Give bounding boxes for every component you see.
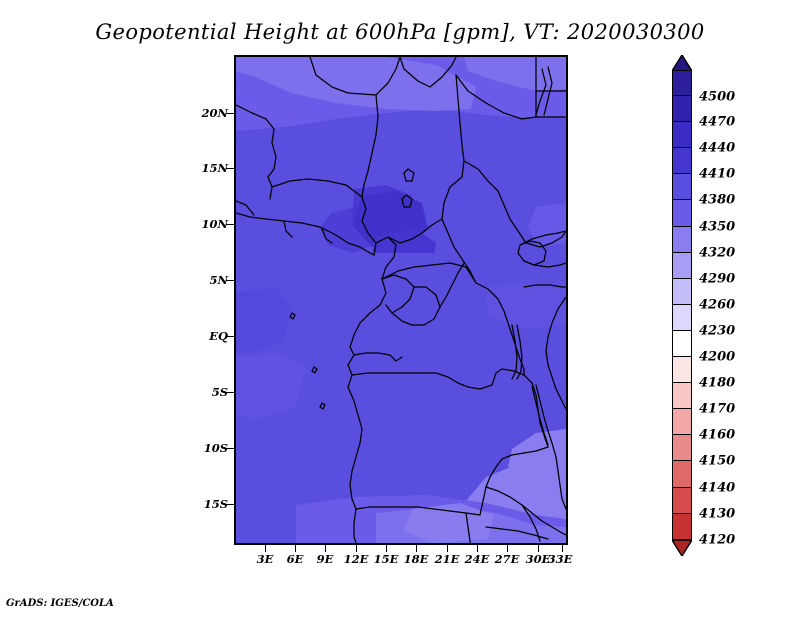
- y-axis-label-15n: 15N: [196, 161, 228, 175]
- colorbar-swatch: 4120: [672, 514, 692, 540]
- colorbar-bottom-arrow: [672, 540, 692, 556]
- colorbar-label-4130: 4130: [699, 506, 735, 521]
- x-axis-label-12e: 12E: [344, 552, 369, 566]
- colorbar-label-4150: 4150: [699, 454, 735, 469]
- x-tick: [562, 545, 563, 552]
- colorbar: 4500447044404410438043504320429042604230…: [672, 70, 692, 540]
- y-tick: [226, 224, 234, 225]
- colorbar-swatch: 4440: [672, 122, 692, 148]
- x-tick: [416, 545, 417, 552]
- x-axis-label-15e: 15E: [374, 552, 399, 566]
- x-axis-label-6e: 6E: [287, 552, 304, 566]
- colorbar-label-4410: 4410: [699, 167, 735, 182]
- colorbar-label-4170: 4170: [699, 402, 735, 417]
- colorbar-label-4160: 4160: [699, 428, 735, 443]
- x-axis-label-3e: 3E: [257, 552, 274, 566]
- colorbar-label-4290: 4290: [699, 271, 735, 286]
- x-axis-label-27e: 27E: [495, 552, 520, 566]
- colorbar-swatch: 4170: [672, 383, 692, 409]
- colorbar-label-4260: 4260: [699, 297, 735, 312]
- y-tick: [226, 280, 234, 281]
- colorbar-label-4350: 4350: [699, 219, 735, 234]
- y-axis-label-20n: 20N: [196, 106, 228, 120]
- x-tick: [325, 545, 326, 552]
- colorbar-label-4440: 4440: [699, 141, 735, 156]
- x-axis-label-18e: 18E: [404, 552, 429, 566]
- colorbar-label-4500: 4500: [699, 90, 735, 105]
- colorbar-swatch: 4500: [672, 70, 692, 96]
- colorbar-swatch: 4230: [672, 305, 692, 331]
- colorbar-label-4320: 4320: [699, 245, 735, 260]
- y-axis-label-10s: 10S: [190, 441, 228, 455]
- colorbar-label-4230: 4230: [699, 323, 735, 338]
- colorbar-swatch: 4350: [672, 200, 692, 226]
- colorbar-swatch: 4260: [672, 279, 692, 305]
- x-tick: [447, 545, 448, 552]
- y-axis-label-5n: 5N: [196, 273, 228, 287]
- y-tick: [226, 113, 234, 114]
- y-tick: [226, 448, 234, 449]
- y-axis-label-15s: 15S: [190, 497, 228, 511]
- y-axis-label-5s: 5S: [196, 385, 228, 399]
- x-tick: [265, 545, 266, 552]
- colorbar-swatch: 4200: [672, 331, 692, 357]
- y-tick: [226, 504, 234, 505]
- x-axis-label-33e: 33E: [548, 552, 573, 566]
- x-tick: [356, 545, 357, 552]
- colorbar-swatch: 4160: [672, 409, 692, 435]
- x-tick: [538, 545, 539, 552]
- y-tick: [226, 168, 234, 169]
- y-axis-label-10n: 10N: [196, 217, 228, 231]
- colorbar-swatch: 4470: [672, 96, 692, 122]
- colorbar-label-4140: 4140: [699, 480, 735, 495]
- colorbar-label-4200: 4200: [699, 350, 735, 365]
- x-axis-label-9e: 9E: [317, 552, 334, 566]
- colorbar-label-4180: 4180: [699, 376, 735, 391]
- colorbar-label-4120: 4120: [699, 532, 735, 547]
- x-axis-label-21e: 21E: [435, 552, 460, 566]
- credit-text: GrADS: IGES/COLA: [6, 598, 114, 609]
- colorbar-label-4470: 4470: [699, 115, 735, 130]
- map-field-svg: [236, 57, 566, 543]
- x-tick: [507, 545, 508, 552]
- map-plot-area: [234, 55, 568, 545]
- colorbar-swatch: 4150: [672, 435, 692, 461]
- x-tick: [295, 545, 296, 552]
- colorbar-swatch: 4320: [672, 227, 692, 253]
- y-tick: [226, 336, 234, 337]
- colorbar-swatch: 4290: [672, 253, 692, 279]
- x-tick: [477, 545, 478, 552]
- x-axis-label-30e: 30E: [526, 552, 551, 566]
- y-axis-label-eq: EQ: [196, 329, 228, 343]
- colorbar-swatch: 4380: [672, 174, 692, 200]
- colorbar-top-arrow: [672, 55, 692, 71]
- x-tick: [386, 545, 387, 552]
- colorbar-swatch: 4140: [672, 461, 692, 487]
- colorbar-label-4380: 4380: [699, 193, 735, 208]
- colorbar-swatch: 4180: [672, 357, 692, 383]
- page-title: Geopotential Height at 600hPa [gpm], VT:…: [0, 20, 800, 44]
- x-axis-label-24e: 24E: [465, 552, 490, 566]
- colorbar-swatch: 4130: [672, 488, 692, 514]
- y-tick: [226, 392, 234, 393]
- colorbar-swatch: 4410: [672, 148, 692, 174]
